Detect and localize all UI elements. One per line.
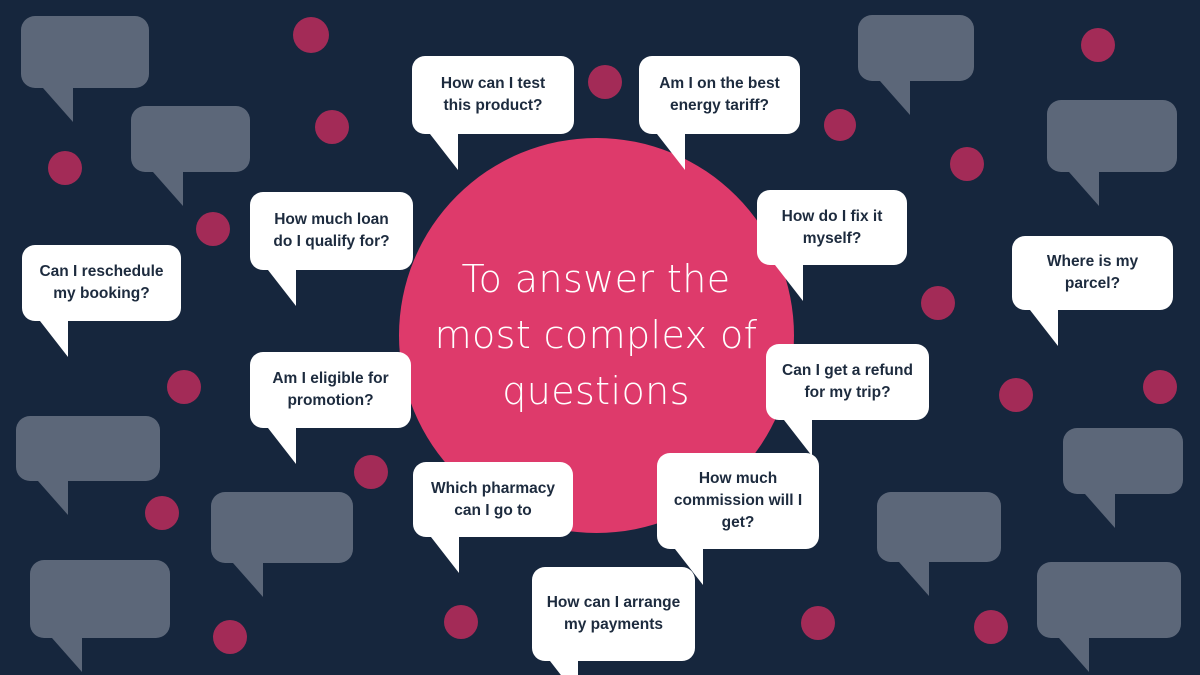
question-bubble-test-product: How can I test this product? bbox=[412, 56, 574, 134]
decorative-speech-bubble-icon bbox=[1037, 562, 1181, 638]
question-bubble-commission: How much commission will I get? bbox=[657, 453, 819, 549]
decorative-speech-bubble-icon bbox=[30, 560, 170, 638]
question-bubble-text: Can I reschedule my booking? bbox=[36, 261, 167, 305]
question-bubble-reschedule: Can I reschedule my booking? bbox=[22, 245, 181, 321]
decorative-speech-bubble-icon bbox=[211, 492, 353, 563]
decorative-dot bbox=[824, 109, 856, 141]
decorative-dot bbox=[167, 370, 201, 404]
question-bubble-text: Am I on the best energy tariff? bbox=[653, 73, 786, 117]
decorative-dot bbox=[213, 620, 247, 654]
question-bubble-text: How do I fix it myself? bbox=[771, 206, 893, 250]
decorative-dot bbox=[921, 286, 955, 320]
decorative-dot bbox=[999, 378, 1033, 412]
decorative-speech-bubble-icon bbox=[1047, 100, 1177, 172]
decorative-dot bbox=[801, 606, 835, 640]
decorative-dot bbox=[444, 605, 478, 639]
question-bubble-which-pharmacy: Which pharmacy can I go to bbox=[413, 462, 573, 537]
question-bubble-text: How much loan do I qualify for? bbox=[264, 209, 399, 253]
decorative-dot bbox=[588, 65, 622, 99]
decorative-dot bbox=[1081, 28, 1115, 62]
question-bubble-text: How can I arrange my payments bbox=[546, 592, 681, 636]
question-bubble-text: Am I eligible for promotion? bbox=[264, 368, 397, 412]
question-bubble-energy-tariff: Am I on the best energy tariff? bbox=[639, 56, 800, 134]
decorative-speech-bubble-icon bbox=[1063, 428, 1183, 494]
decorative-dot bbox=[950, 147, 984, 181]
decorative-dot bbox=[354, 455, 388, 489]
decorative-speech-bubble-icon bbox=[16, 416, 160, 481]
decorative-speech-bubble-icon bbox=[21, 16, 149, 88]
question-bubble-fix-it-myself: How do I fix it myself? bbox=[757, 190, 907, 265]
question-bubble-text: How much commission will I get? bbox=[671, 468, 805, 534]
question-bubble-text: How can I test this product? bbox=[426, 73, 560, 117]
decorative-speech-bubble-icon bbox=[877, 492, 1001, 562]
decorative-dot bbox=[145, 496, 179, 530]
question-bubble-where-parcel: Where is my parcel? bbox=[1012, 236, 1173, 310]
question-bubble-refund-trip: Can I get a refund for my trip? bbox=[766, 344, 929, 420]
decorative-dot bbox=[293, 17, 329, 53]
decorative-dot bbox=[196, 212, 230, 246]
decorative-speech-bubble-icon bbox=[131, 106, 250, 172]
decorative-speech-bubble-icon bbox=[858, 15, 974, 81]
question-bubble-text: Where is my parcel? bbox=[1026, 251, 1159, 295]
question-bubble-eligible-promo: Am I eligible for promotion? bbox=[250, 352, 411, 428]
question-bubble-text: Which pharmacy can I go to bbox=[427, 478, 559, 522]
poster-canvas: To answer the most complex of questions … bbox=[0, 0, 1200, 675]
question-bubble-loan-qualify: How much loan do I qualify for? bbox=[250, 192, 413, 270]
decorative-dot bbox=[1143, 370, 1177, 404]
decorative-dot bbox=[48, 151, 82, 185]
question-bubble-text: Can I get a refund for my trip? bbox=[780, 360, 915, 404]
hero-headline: To answer the most complex of questions bbox=[426, 251, 766, 420]
question-bubble-arrange-payments: How can I arrange my payments bbox=[532, 567, 695, 661]
decorative-dot bbox=[315, 110, 349, 144]
decorative-dot bbox=[974, 610, 1008, 644]
